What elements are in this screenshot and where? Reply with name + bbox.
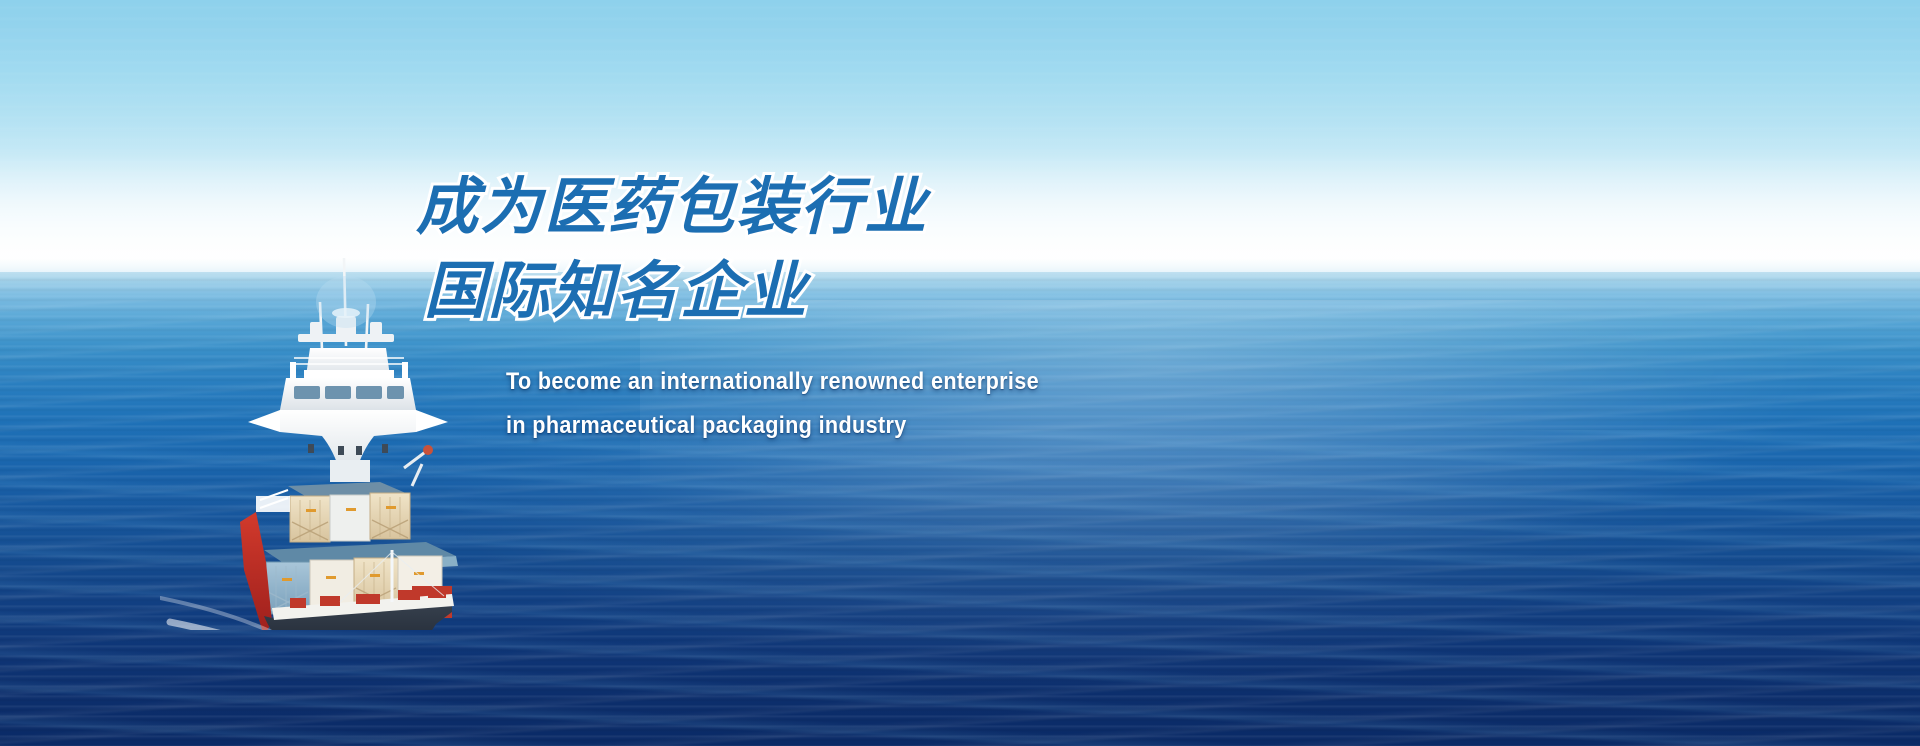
- ship-deck-crane: [404, 450, 428, 486]
- container-stack-upper: [288, 482, 410, 542]
- ship-funnel: [330, 460, 370, 482]
- hero-banner: 成为医药包装行业 国际知名企业 To become an internation…: [0, 0, 1920, 746]
- subtitle-line-2: in pharmaceutical packaging industry: [416, 404, 1226, 448]
- bridge-windows: [294, 386, 404, 399]
- banner-copy: 成为医药包装行业 国际知名企业 To become an internation…: [416, 166, 1316, 448]
- ship-wheelhouse: [280, 378, 416, 410]
- subtitle-line-1: To become an internationally renowned en…: [416, 360, 1226, 404]
- headline-chinese: 成为医药包装行业 国际知名企业: [416, 166, 1316, 334]
- mast-light-bloom: [316, 276, 376, 328]
- headline-line-2: 国际知名企业: [416, 250, 1316, 334]
- subtitle-english: To become an internationally renowned en…: [416, 360, 1316, 448]
- headline-line-1: 成为医药包装行业: [416, 166, 1316, 250]
- ship-bridge-tower: [290, 348, 408, 378]
